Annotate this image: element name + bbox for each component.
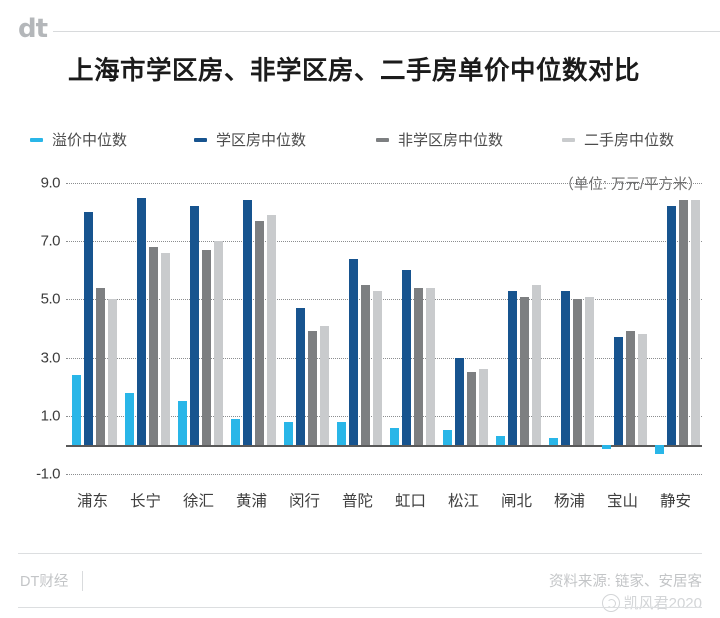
bar[interactable]: [178, 401, 187, 445]
bar[interactable]: [467, 372, 476, 445]
bar[interactable]: [284, 422, 293, 445]
x-axis-tick-label: 松江: [437, 489, 490, 511]
bar[interactable]: [638, 334, 647, 445]
bar-group: [655, 0, 700, 618]
bar-group: [178, 0, 223, 618]
x-axis-tick-label: 虹口: [384, 489, 437, 511]
footer-source: 资料来源: 链家、安居客: [549, 570, 702, 591]
bar[interactable]: [655, 445, 664, 454]
bar[interactable]: [267, 215, 276, 445]
footer-brand-label: DT财经: [20, 570, 68, 591]
bar-group: [549, 0, 594, 618]
bar[interactable]: [349, 259, 358, 445]
x-axis-tick-label: 静安: [649, 489, 702, 511]
y-axis-tick-label: 7.0: [18, 233, 60, 250]
x-axis-tick-label: 杨浦: [543, 489, 596, 511]
bar[interactable]: [443, 430, 452, 445]
bar[interactable]: [255, 221, 264, 445]
bar[interactable]: [125, 393, 134, 445]
bar[interactable]: [308, 331, 317, 445]
bar-group: [231, 0, 276, 618]
bar[interactable]: [296, 308, 305, 445]
footer-brand-separator: [82, 571, 83, 591]
bar[interactable]: [390, 428, 399, 445]
bar[interactable]: [532, 285, 541, 445]
bar[interactable]: [455, 358, 464, 445]
bar[interactable]: [202, 250, 211, 445]
bar[interactable]: [96, 288, 105, 445]
y-axis-tick-label: 5.0: [18, 291, 60, 308]
watermark: 凯风君2020: [602, 592, 702, 613]
bar[interactable]: [520, 297, 529, 445]
bar-group: [390, 0, 435, 618]
bar[interactable]: [149, 247, 158, 445]
x-axis-tick-label: 长宁: [119, 489, 172, 511]
bar[interactable]: [561, 291, 570, 445]
bar-group: [496, 0, 541, 618]
bar[interactable]: [667, 206, 676, 445]
bar[interactable]: [496, 436, 505, 445]
bar[interactable]: [137, 198, 146, 445]
chart-plot-area: 9.07.05.03.01.0-1.0 浦东长宁徐汇黄浦闵行普陀虹口松江闸北杨浦…: [0, 0, 720, 618]
bar-group: [72, 0, 117, 618]
x-axis-labels: 浦东长宁徐汇黄浦闵行普陀虹口松江闸北杨浦宝山静安: [66, 489, 702, 513]
bar-group: [443, 0, 488, 618]
bar[interactable]: [602, 445, 611, 449]
y-axis-tick-label: -1.0: [18, 466, 60, 483]
bar[interactable]: [361, 285, 370, 445]
bar[interactable]: [190, 206, 199, 445]
bar[interactable]: [231, 419, 240, 445]
bar[interactable]: [161, 253, 170, 445]
bar[interactable]: [426, 288, 435, 445]
weibo-icon: [602, 594, 620, 612]
footer-divider-top: [18, 553, 702, 554]
watermark-label: 凯风君2020: [624, 592, 702, 613]
x-axis-tick-label: 闵行: [278, 489, 331, 511]
bar[interactable]: [243, 200, 252, 445]
bar[interactable]: [402, 270, 411, 445]
bar[interactable]: [573, 299, 582, 445]
bar[interactable]: [679, 200, 688, 445]
x-axis-tick-label: 宝山: [596, 489, 649, 511]
bar[interactable]: [72, 375, 81, 445]
y-axis-tick-label: 1.0: [18, 407, 60, 424]
bar[interactable]: [614, 337, 623, 445]
bar[interactable]: [214, 241, 223, 445]
x-axis-tick-label: 闸北: [490, 489, 543, 511]
bar[interactable]: [508, 291, 517, 445]
bar-group: [602, 0, 647, 618]
bar[interactable]: [585, 297, 594, 445]
bar[interactable]: [549, 438, 558, 445]
bar[interactable]: [479, 369, 488, 445]
bar-group: [337, 0, 382, 618]
y-axis-tick-label: 9.0: [18, 175, 60, 192]
x-axis-tick-label: 徐汇: [172, 489, 225, 511]
y-axis: 9.07.05.03.01.0-1.0: [18, 0, 60, 618]
x-axis-tick-label: 黄浦: [225, 489, 278, 511]
bar[interactable]: [414, 288, 423, 445]
bar-series-layer: [66, 0, 702, 618]
bar[interactable]: [337, 422, 346, 445]
footer-brand: DT财经: [20, 570, 83, 591]
x-axis-tick-label: 普陀: [331, 489, 384, 511]
bar[interactable]: [626, 331, 635, 445]
footer-divider-bottom: [18, 607, 702, 608]
bar[interactable]: [84, 212, 93, 445]
bar[interactable]: [373, 291, 382, 445]
bar[interactable]: [320, 326, 329, 445]
bar[interactable]: [691, 200, 700, 445]
y-axis-tick-label: 3.0: [18, 349, 60, 366]
bar[interactable]: [108, 299, 117, 445]
x-axis-tick-label: 浦东: [66, 489, 119, 511]
bar-group: [125, 0, 170, 618]
bar-group: [284, 0, 329, 618]
